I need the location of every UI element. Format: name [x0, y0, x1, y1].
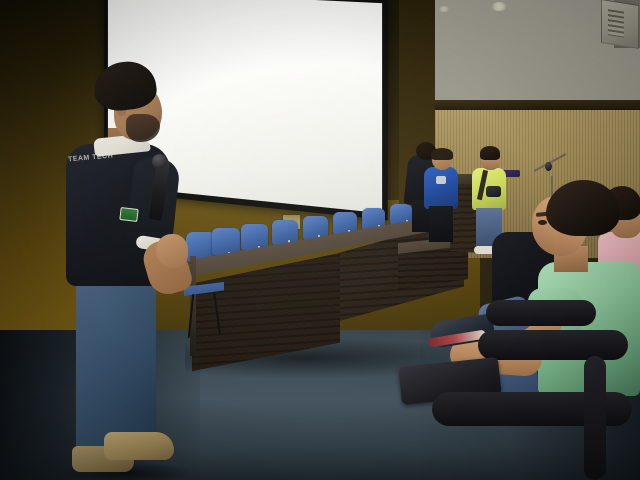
stage-chair [241, 224, 268, 250]
auditorium-photo: TEAM TECH [0, 0, 640, 480]
stage-chair [272, 220, 298, 245]
ceiling-light-icon [490, 2, 508, 11]
audience-chair-frame [584, 356, 606, 480]
standing-person-blue-jersey [424, 150, 458, 242]
air-conditioner-icon [601, 0, 639, 49]
legs [429, 206, 453, 242]
eye [538, 220, 547, 225]
hand [156, 234, 188, 268]
torso [424, 167, 458, 209]
microphone-icon [545, 162, 552, 171]
flag-patch-icon [119, 207, 138, 222]
presenter-boot [104, 432, 174, 460]
hair [480, 146, 500, 160]
beard [126, 114, 160, 142]
presenter: TEAM TECH [52, 62, 182, 480]
back-wall-trim [399, 100, 640, 110]
hair [431, 148, 453, 160]
ceiling-light-icon [438, 6, 450, 12]
jersey-crest-icon [436, 176, 446, 184]
stage-chair [212, 228, 240, 255]
hair [546, 180, 620, 236]
